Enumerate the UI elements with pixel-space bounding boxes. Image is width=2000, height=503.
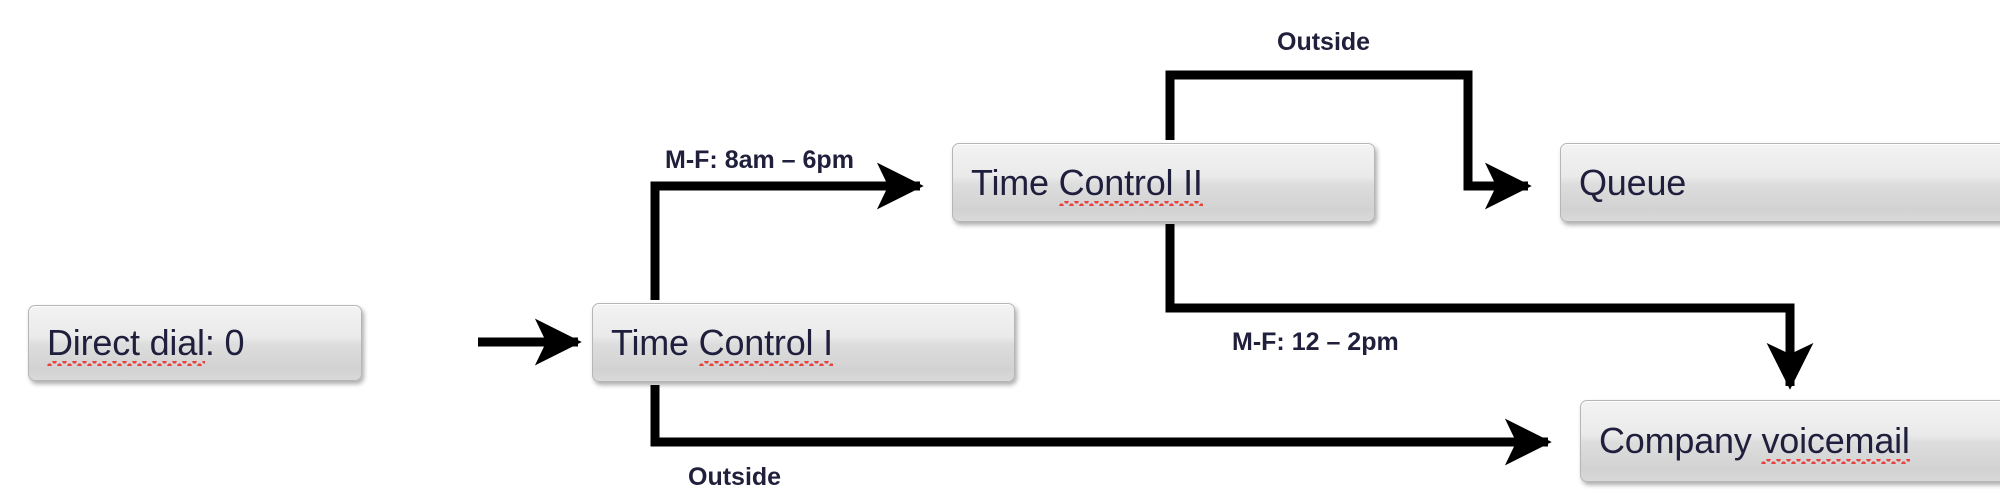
node-time-control-1[interactable]: Time Control I	[592, 303, 1015, 382]
spellcheck-underline: Control II	[1059, 165, 1203, 201]
spellcheck-underline: Control I	[699, 325, 833, 361]
node-queue[interactable]: Queue	[1560, 143, 2000, 222]
node-time-control-2-label: Time Control II	[953, 165, 1203, 201]
edge-time-control-2-to-company-voicemail	[1170, 224, 1790, 386]
node-company-voicemail[interactable]: Company voicemail	[1580, 400, 2000, 482]
node-direct-dial-label-tail: : 0	[205, 322, 244, 363]
node-time-control-2-label-head: Time	[971, 162, 1059, 203]
edge-label-outside-bottom: Outside	[688, 465, 781, 490]
spellcheck-underline: voicemail	[1761, 423, 1909, 459]
flowchart-canvas: Direct dial: 0 Time Control I Time Contr…	[0, 0, 2000, 503]
node-direct-dial-label: Direct dial: 0	[29, 325, 244, 361]
spellcheck-underline: Direct dial	[47, 325, 205, 361]
node-company-voicemail-label: Company voicemail	[1581, 423, 1910, 459]
node-company-voicemail-label-head: Company	[1599, 420, 1761, 461]
edge-label-mf-12-2pm: M-F: 12 – 2pm	[1232, 330, 1399, 355]
node-time-control-1-label-head: Time	[611, 322, 699, 363]
edge-label-outside-top: Outside	[1277, 30, 1370, 55]
node-time-control-1-label: Time Control I	[593, 325, 833, 361]
node-time-control-2[interactable]: Time Control II	[952, 143, 1375, 222]
edge-label-mf-8am-6pm: M-F: 8am – 6pm	[665, 148, 854, 173]
edge-time-control-1-to-time-control-2	[655, 186, 920, 300]
node-queue-label: Queue	[1561, 165, 1686, 201]
edge-time-control-1-to-company-voicemail	[655, 385, 1548, 442]
node-direct-dial[interactable]: Direct dial: 0	[28, 305, 362, 381]
